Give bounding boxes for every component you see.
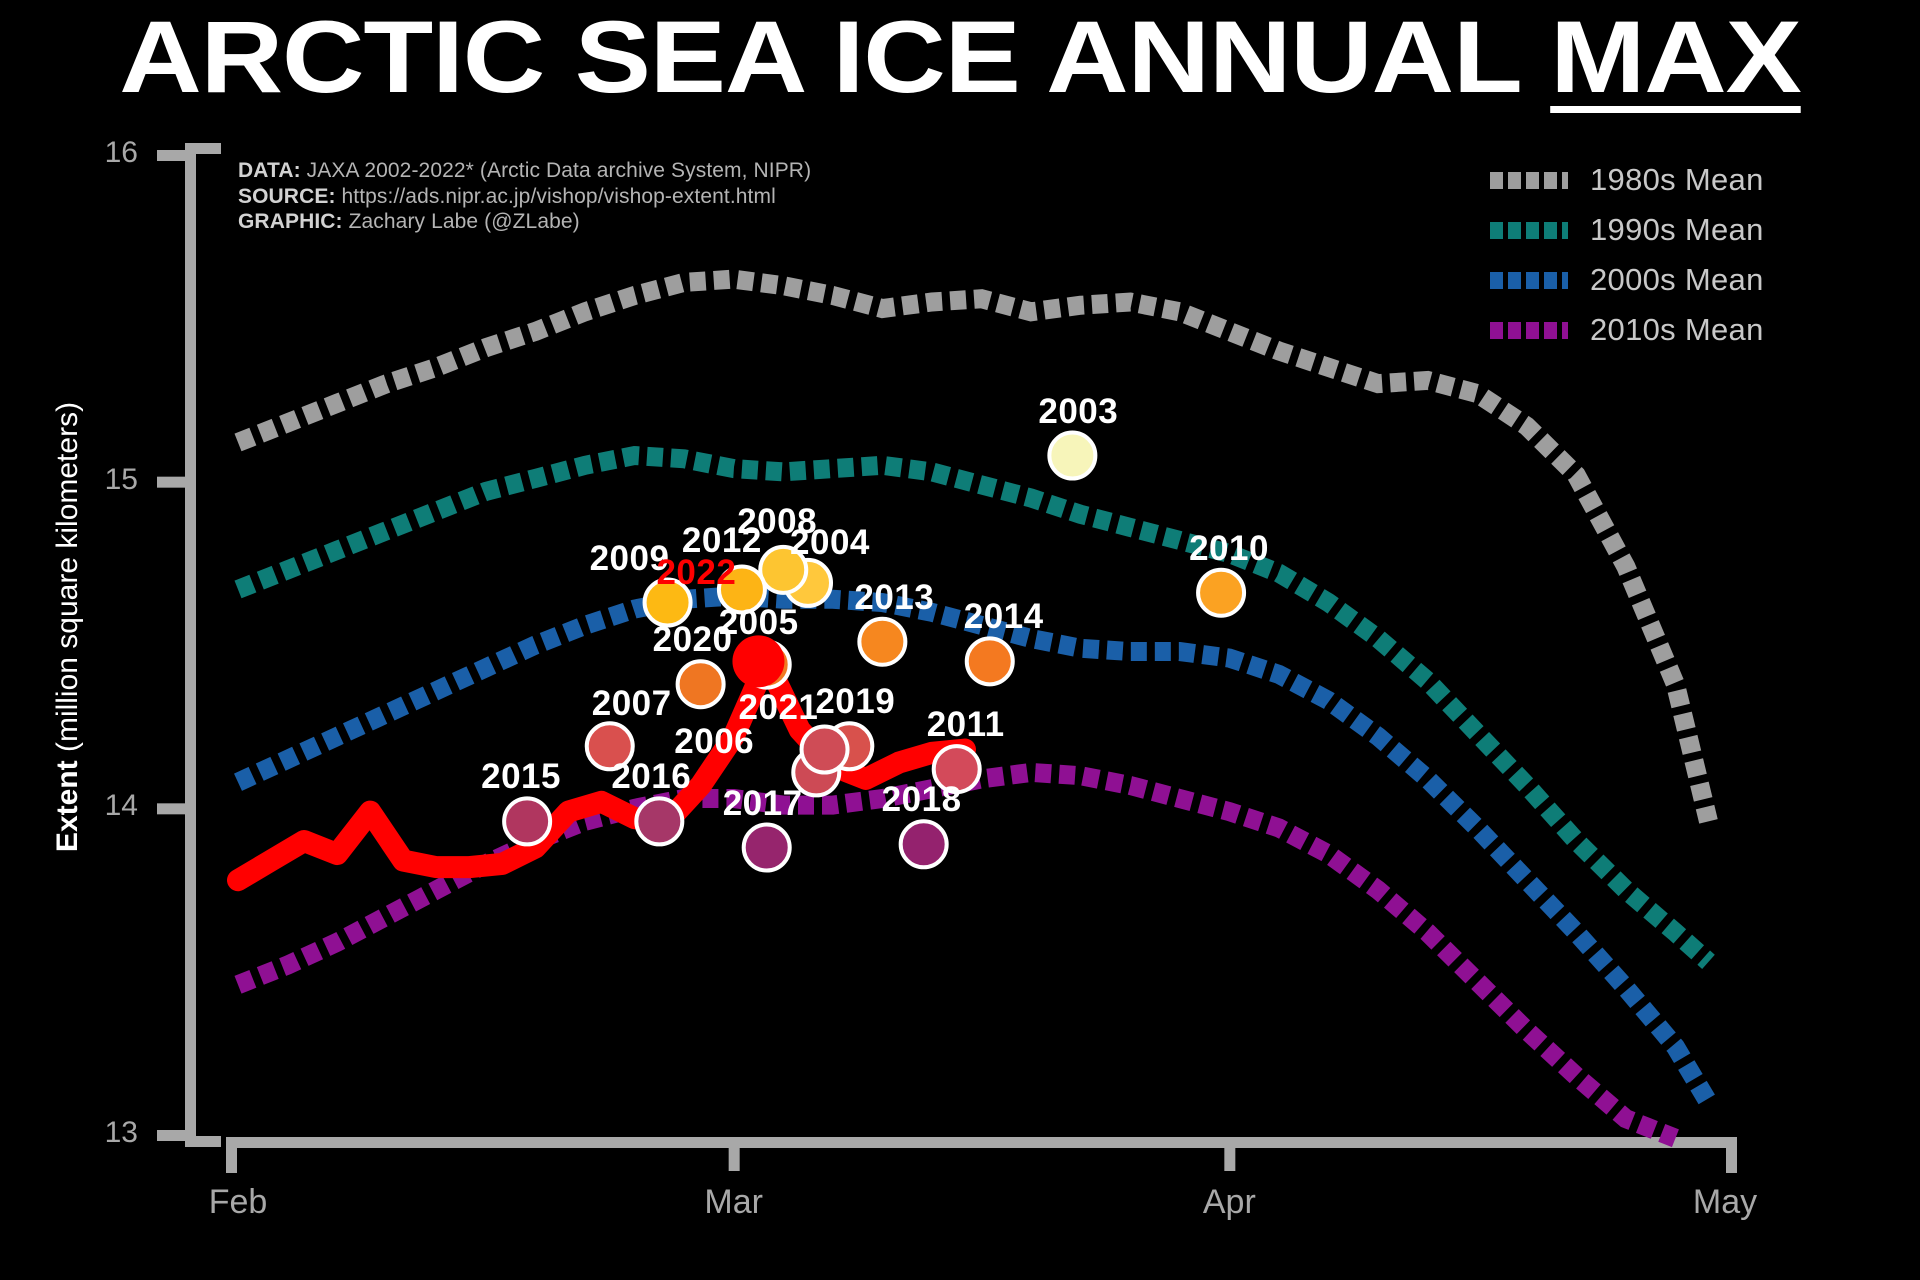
annual-max-marker-2017[interactable] [744, 825, 790, 871]
annual-max-marker-2013[interactable] [859, 619, 905, 665]
annual-max-label-2018: 2018 [882, 780, 962, 820]
annual-max-marker-2018[interactable] [901, 821, 947, 867]
annual-max-label-2022: 2022 [656, 553, 736, 593]
annual-max-marker-2010[interactable] [1198, 570, 1244, 616]
y-axis-tick [157, 803, 185, 814]
y-axis-tick [157, 477, 185, 488]
annual-max-label-2007: 2007 [592, 684, 672, 724]
annual-max-label-2019: 2019 [815, 682, 895, 722]
y-axis-tick [157, 1130, 185, 1141]
x-axis-tick-label: Apr [1159, 1183, 1299, 1222]
y-axis-tick-label: 14 [58, 789, 138, 823]
x-axis-tick-label: May [1655, 1183, 1795, 1222]
x-axis-spine [226, 1137, 1737, 1148]
x-axis-tick-label: Mar [664, 1183, 804, 1222]
annual-max-marker-2014[interactable] [967, 638, 1013, 684]
annual-max-marker-2015[interactable] [504, 798, 550, 844]
annual-max-label-2011: 2011 [927, 705, 1005, 745]
x-axis-cap-left [226, 1137, 237, 1173]
annual-max-label-2003: 2003 [1038, 392, 1118, 432]
y-axis-cap-top [185, 143, 221, 154]
annual-max-label-2017: 2017 [723, 784, 803, 824]
x-axis-tick [729, 1137, 740, 1171]
chart-page: ARCTIC SEA ICE ANNUAL MAX DATA: JAXA 200… [0, 0, 1920, 1280]
annual-max-marker-2022[interactable] [732, 635, 784, 687]
annual-max-label-2013: 2013 [854, 578, 934, 618]
annual-max-marker-2003[interactable] [1049, 433, 1095, 479]
y-axis-tick-label: 13 [58, 1116, 138, 1150]
y-axis-cap-bottom [185, 1136, 221, 1147]
x-axis-tick [1224, 1137, 1235, 1171]
y-axis-tick-label: 16 [58, 136, 138, 170]
x-axis-cap-right [1726, 1137, 1737, 1173]
y-axis-spine [185, 143, 196, 1147]
annual-max-marker-2020[interactable] [678, 661, 724, 707]
annual-max-label-2010: 2010 [1189, 529, 1269, 569]
y-axis-tick-label: 15 [58, 463, 138, 497]
annual-max-marker-2021[interactable] [802, 727, 848, 773]
y-axis-tick [157, 150, 185, 161]
plot-area [0, 0, 1920, 1280]
annual-max-label-2006: 2006 [674, 722, 754, 762]
annual-max-label-2021: 2021 [739, 688, 819, 728]
annual-max-marker-2016[interactable] [636, 798, 682, 844]
annual-max-label-2014: 2014 [964, 597, 1044, 637]
annual-max-label-2016: 2016 [611, 757, 691, 797]
chart-svg [0, 0, 1920, 1280]
series-line-2010s-mean [238, 772, 1675, 1138]
annual-max-label-2015: 2015 [481, 757, 561, 797]
annual-max-label-2020: 2020 [653, 620, 733, 660]
x-axis-tick-label: Feb [168, 1183, 308, 1222]
